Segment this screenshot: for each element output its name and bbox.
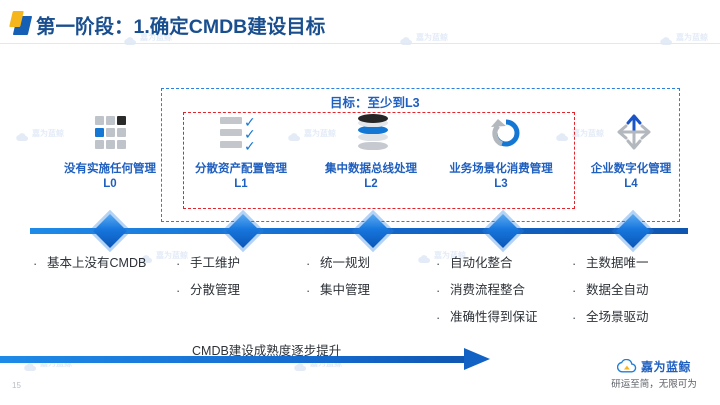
bullets-L4: · 主数据唯一 · 数据全自动 · 全场景驱动 bbox=[572, 255, 649, 336]
list-item: · 手工维护 bbox=[176, 255, 240, 272]
page-title: 第一阶段：1.确定CMDB建设目标 bbox=[36, 10, 325, 39]
bullet-text: 数据全自动 bbox=[586, 282, 649, 299]
bullet-marker: · bbox=[176, 255, 190, 272]
header-divider bbox=[0, 43, 720, 44]
bullet-text: 集中管理 bbox=[320, 282, 370, 299]
bullet-text: 自动化整合 bbox=[450, 255, 513, 272]
timeline-marker-L4 bbox=[618, 216, 648, 246]
stage-L2: 集中数据总线处理 L2 bbox=[306, 108, 436, 192]
bullet-marker: · bbox=[33, 255, 47, 272]
stage-L1: ✓ ✓ ✓ 分散资产配置管理 L1 bbox=[176, 108, 306, 192]
bullet-text: 消费流程整合 bbox=[450, 282, 525, 299]
bullet-marker: · bbox=[306, 282, 320, 299]
bullets-L2: · 统一规划 · 集中管理 bbox=[306, 255, 370, 309]
stage-L4-label: 企业数字化管理 bbox=[566, 162, 696, 177]
stage-L4: 企业数字化管理 L4 bbox=[566, 108, 696, 192]
list-item: · 分散管理 bbox=[176, 282, 240, 299]
bullet-text: 基本上没有CMDB bbox=[47, 255, 146, 272]
cloud-icon bbox=[418, 251, 431, 260]
stage-L1-level: L1 bbox=[176, 177, 306, 192]
bullet-text: 手工维护 bbox=[190, 255, 240, 272]
maturity-progress-arrowhead bbox=[464, 348, 490, 370]
bullet-marker: · bbox=[436, 255, 450, 272]
bullet-marker: · bbox=[572, 309, 586, 326]
list-item: · 主数据唯一 bbox=[572, 255, 649, 272]
stage-L0: 没有实施任何管理 L0 bbox=[45, 108, 175, 192]
timeline-marker-L0 bbox=[95, 216, 125, 246]
timeline-marker-L2 bbox=[358, 216, 388, 246]
cloud-icon bbox=[16, 129, 29, 138]
footer-logo-row: 嘉为蓝鲸 bbox=[598, 358, 710, 374]
list-item: · 自动化整合 bbox=[436, 255, 538, 272]
refresh-cycle-icon bbox=[484, 112, 524, 154]
bullet-marker: · bbox=[436, 309, 450, 326]
stage-L4-icon-wrap bbox=[566, 108, 696, 162]
stage-L2-icon-wrap bbox=[306, 108, 436, 162]
stage-L1-icon-wrap: ✓ ✓ ✓ bbox=[176, 108, 306, 162]
list-item: · 数据全自动 bbox=[572, 282, 649, 299]
checklist-icon: ✓ ✓ ✓ bbox=[220, 116, 264, 152]
bullet-marker: · bbox=[572, 255, 586, 272]
bullets-L1: · 手工维护 · 分散管理 bbox=[176, 255, 240, 309]
bullet-marker: · bbox=[572, 282, 586, 299]
cloud-icon bbox=[617, 359, 637, 373]
jiawei-logo-mark-icon bbox=[11, 11, 33, 35]
footer-tagline: 研运至简，无限可为 bbox=[598, 376, 710, 390]
stage-L2-label: 集中数据总线处理 bbox=[306, 162, 436, 177]
list-item: · 全场景驱动 bbox=[572, 309, 649, 326]
bullets-L0: · 基本上没有CMDB bbox=[33, 255, 146, 282]
maturity-progress-label: CMDB建设成熟度逐步提升 bbox=[192, 340, 341, 359]
footer-logo: 嘉为蓝鲸 研运至简，无限可为 bbox=[598, 358, 710, 390]
stage-L1-label: 分散资产配置管理 bbox=[176, 162, 306, 177]
stage-L3-icon-wrap bbox=[436, 108, 566, 162]
stage-L4-level: L4 bbox=[566, 177, 696, 192]
bullet-marker: · bbox=[436, 282, 450, 299]
stage-L3: 业务场景化消费管理 L3 bbox=[436, 108, 566, 192]
bullet-text: 全场景驱动 bbox=[586, 309, 649, 326]
stage-L0-icon-wrap bbox=[45, 108, 175, 162]
timeline-marker-L1 bbox=[228, 216, 258, 246]
list-item: · 集中管理 bbox=[306, 282, 370, 299]
bullet-text: 主数据唯一 bbox=[586, 255, 649, 272]
bullet-marker: · bbox=[306, 255, 320, 272]
stage-L2-level: L2 bbox=[306, 177, 436, 192]
list-item: · 消费流程整合 bbox=[436, 282, 538, 299]
stage-L0-level: L0 bbox=[45, 177, 175, 192]
stage-L0-label: 没有实施任何管理 bbox=[45, 162, 175, 177]
list-item: · 准确性得到保证 bbox=[436, 309, 538, 326]
page-number: 15 bbox=[12, 381, 21, 390]
bullet-text: 分散管理 bbox=[190, 282, 240, 299]
stage-L3-level: L3 bbox=[436, 177, 566, 192]
database-icon bbox=[358, 114, 388, 154]
bullets-L3: · 自动化整合 · 消费流程整合 · 准确性得到保证 bbox=[436, 255, 538, 336]
timeline-marker-L3 bbox=[488, 216, 518, 246]
list-item: · 统一规划 bbox=[306, 255, 370, 272]
four-direction-arrows-icon bbox=[614, 112, 654, 154]
bullet-text: 统一规划 bbox=[320, 255, 370, 272]
footer-brand-name: 嘉为蓝鲸 bbox=[641, 358, 691, 375]
bullet-text: 准确性得到保证 bbox=[450, 309, 538, 326]
slide-header: 第一阶段：1.确定CMDB建设目标 bbox=[0, 0, 720, 44]
stage-L3-label: 业务场景化消费管理 bbox=[436, 162, 566, 177]
slide-canvas: 嘉为蓝鲸 嘉为蓝鲸 嘉为蓝鲸 嘉为蓝鲸 嘉为蓝鲸 嘉为蓝鲸 嘉为蓝鲸 bbox=[0, 0, 720, 405]
list-item: · 基本上没有CMDB bbox=[33, 255, 146, 272]
grid-3x3-icon bbox=[95, 116, 127, 150]
bullet-marker: · bbox=[176, 282, 190, 299]
